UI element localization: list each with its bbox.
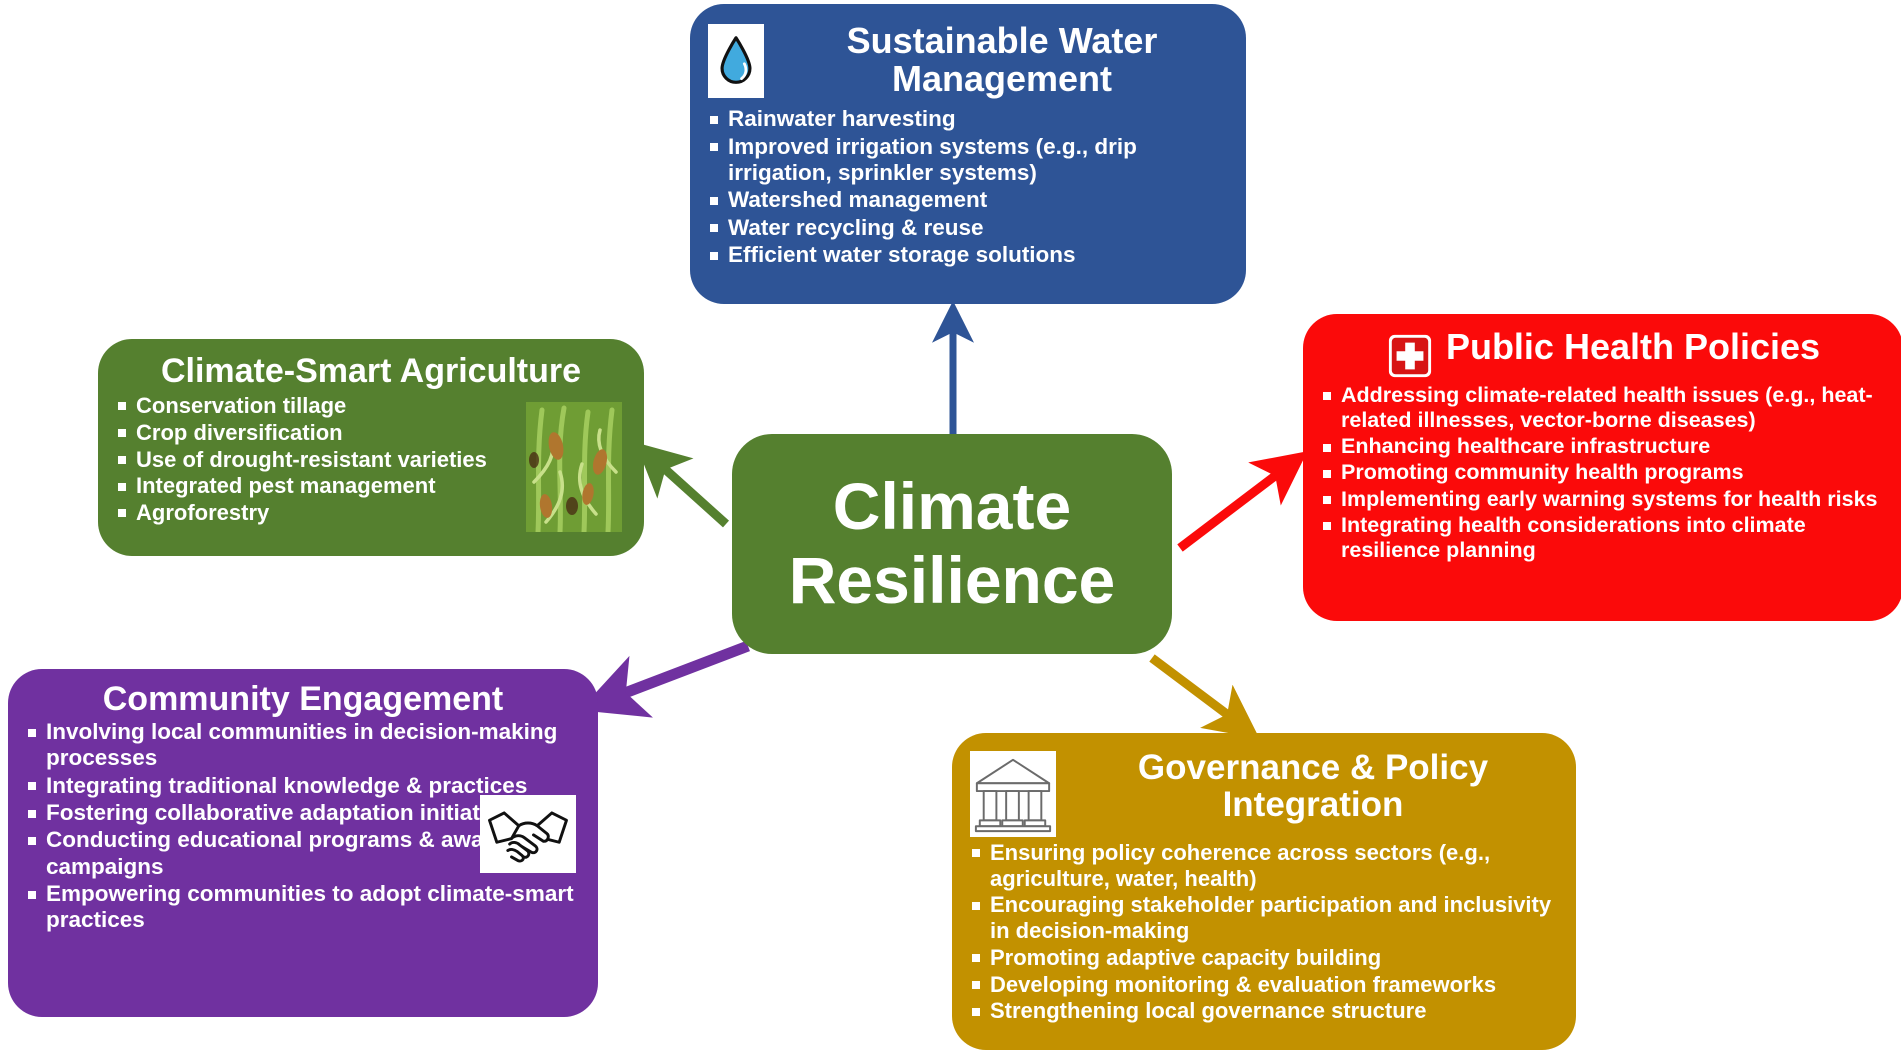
node-header: Climate-Smart Agriculture — [116, 349, 626, 389]
list-item: Involving local communities in decision-… — [26, 719, 580, 772]
list-item: Improved irrigation systems (e.g., drip … — [708, 134, 1228, 187]
node-climate-resilience-center[interactable]: Climate Resilience — [732, 434, 1172, 654]
node-header: Governance & Policy Integration — [970, 743, 1558, 837]
center-label-line2: Resilience — [789, 544, 1116, 618]
node-header: Public Health Policies — [1321, 324, 1885, 380]
list-item: Promoting adaptive capacity building — [970, 945, 1558, 971]
node-sustainable-water-management[interactable]: Sustainable Water Management Rainwater h… — [690, 4, 1246, 304]
list-item: Encouraging stakeholder participation an… — [970, 892, 1558, 943]
list-item: Empowering communities to adopt climate-… — [26, 881, 580, 934]
classical-building-icon — [970, 751, 1056, 837]
list-item: Promoting community health programs — [1321, 460, 1885, 485]
list-item: Enhancing healthcare infrastructure — [1321, 434, 1885, 459]
list-item: Ensuring policy coherence across sectors… — [970, 840, 1558, 891]
node-community-engagement[interactable]: Community Engagement Involving local com… — [8, 669, 598, 1017]
handshake-icon — [480, 795, 576, 873]
node-climate-smart-agriculture[interactable]: Climate-Smart Agriculture Conservation t… — [98, 339, 644, 556]
bullet-list: Rainwater harvesting Improved irrigation… — [708, 106, 1228, 268]
list-item: Watershed management — [708, 187, 1228, 213]
water-drop-icon — [708, 24, 764, 98]
node-title: Sustainable Water Management — [776, 22, 1228, 98]
list-item: Integrating health considerations into c… — [1321, 513, 1885, 563]
connector-center-to-community — [596, 646, 748, 704]
center-label-line1: Climate — [789, 470, 1116, 544]
list-item: Implementing early warning systems for h… — [1321, 487, 1885, 512]
node-public-health-policies[interactable]: Public Health Policies Addressing climat… — [1303, 314, 1901, 621]
list-item: Strengthening local governance structure — [970, 998, 1558, 1024]
connector-center-to-agriculture — [646, 452, 726, 524]
connector-center-to-governance — [1152, 658, 1248, 730]
connector-center-to-health — [1180, 460, 1296, 548]
medical-cross-icon — [1386, 332, 1434, 380]
node-title: Climate-Smart Agriculture — [161, 353, 581, 389]
list-item: Addressing climate-related health issues… — [1321, 383, 1885, 433]
node-title: Governance & Policy Integration — [1068, 749, 1558, 823]
center-label: Climate Resilience — [789, 470, 1116, 618]
bullet-list: Ensuring policy coherence across sectors… — [970, 840, 1558, 1024]
node-header: Sustainable Water Management — [708, 14, 1228, 98]
node-header: Community Engagement — [26, 679, 580, 717]
maize-crop-photo — [526, 402, 622, 532]
node-governance-policy-integration[interactable]: Governance & Policy Integration Ensuring… — [952, 733, 1576, 1050]
list-item: Efficient water storage solutions — [708, 242, 1228, 268]
list-item: Rainwater harvesting — [708, 106, 1228, 132]
list-item: Water recycling & reuse — [708, 215, 1228, 241]
bullet-list: Addressing climate-related health issues… — [1321, 383, 1885, 563]
node-title: Community Engagement — [103, 681, 503, 717]
list-item: Developing monitoring & evaluation frame… — [970, 972, 1558, 998]
diagram-canvas: Sustainable Water Management Rainwater h… — [0, 0, 1901, 1057]
node-title: Public Health Policies — [1446, 328, 1820, 366]
